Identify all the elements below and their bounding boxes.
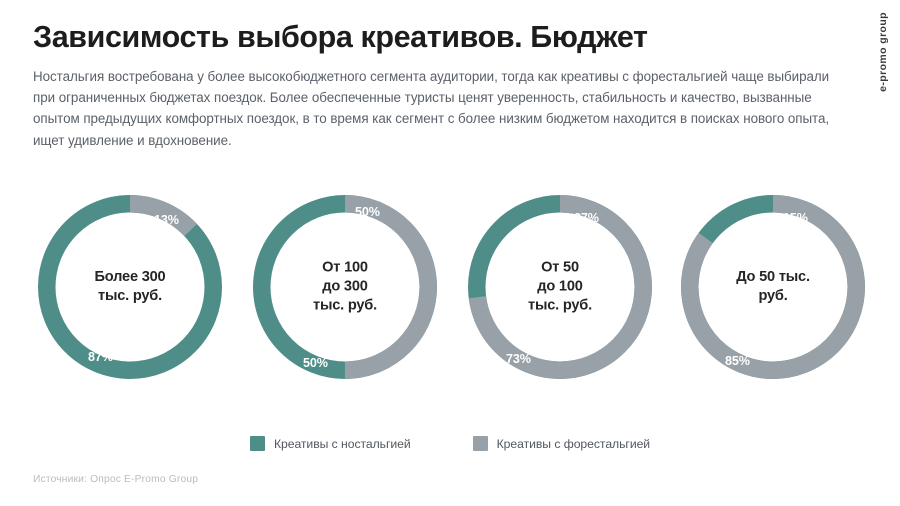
brand-label: e-promo group: [877, 12, 889, 92]
legend-label: Креативы с форестальгией: [497, 437, 650, 451]
donut-chart: Более 300тыс. руб.87%13%: [36, 193, 224, 381]
donut-pct-label-forestalgia: 50%: [355, 205, 380, 219]
chart-legend: Креативы с ностальгиейКреативы с фореста…: [0, 436, 900, 451]
donut-pct-label-forestalgia: 73%: [506, 352, 531, 366]
donut-chart-group: Более 300тыс. руб.87%13%От 100до 300тыс.…: [0, 193, 900, 388]
donut-chart: До 50 тыс.руб.15%85%: [679, 193, 867, 381]
donut-center-line: до 300: [281, 278, 409, 297]
description-text: Ностальгия востребована у более высокобю…: [33, 66, 833, 151]
donut-pct-label-nostalgia: 15%: [783, 211, 808, 225]
donut-chart: От 50до 100тыс. руб.27%73%: [466, 193, 654, 381]
donut-pct-label-nostalgia: 50%: [303, 356, 328, 370]
legend-label: Креативы с ностальгией: [274, 437, 411, 451]
donut-pct-label-forestalgia: 85%: [725, 354, 750, 368]
donut-center-label: От 100до 300тыс. руб.: [251, 259, 439, 316]
brand-watermark: e-promo group: [872, 12, 894, 132]
donut-center-line: От 100: [281, 259, 409, 278]
donut-chart: От 100до 300тыс. руб.50%50%: [251, 193, 439, 381]
legend-item-nostalgia[interactable]: Креативы с ностальгией: [250, 436, 411, 451]
donut-center-line: От 50: [496, 259, 624, 278]
donut-center-line: тыс. руб.: [66, 287, 194, 306]
legend-swatch-nostalgia: [250, 436, 265, 451]
donut-center-line: тыс. руб.: [496, 297, 624, 316]
donut-pct-label-nostalgia: 87%: [88, 350, 113, 364]
legend-swatch-forestalgia: [473, 436, 488, 451]
donut-center-label: До 50 тыс.руб.: [679, 268, 867, 306]
donut-center-line: тыс. руб.: [281, 297, 409, 316]
legend-item-forestalgia[interactable]: Креативы с форестальгией: [473, 436, 650, 451]
donut-center-line: до 100: [496, 278, 624, 297]
donut-center-label: Более 300тыс. руб.: [36, 268, 224, 306]
donut-center-line: Более 300: [66, 268, 194, 287]
donut-center-label: От 50до 100тыс. руб.: [466, 259, 654, 316]
donut-pct-label-forestalgia: 13%: [154, 213, 179, 227]
source-note: Источники: Опрос E-Promo Group: [33, 474, 198, 485]
donut-center-line: До 50 тыс.: [709, 268, 837, 287]
infographic-slide: Зависимость выбора креативов. Бюджет Нос…: [0, 0, 900, 506]
page-title: Зависимость выбора креативов. Бюджет: [33, 21, 833, 55]
donut-pct-label-nostalgia: 27%: [574, 211, 599, 225]
donut-center-line: руб.: [709, 287, 837, 306]
